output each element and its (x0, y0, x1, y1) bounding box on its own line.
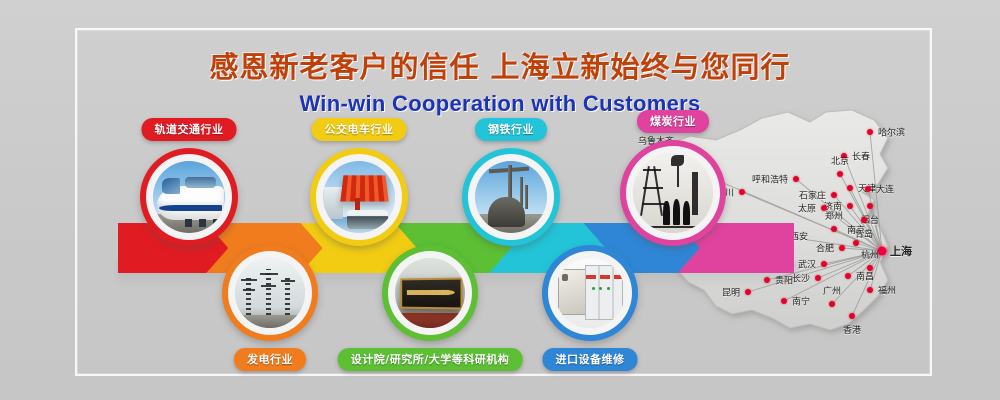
city-label: 北京 (831, 154, 849, 167)
switchgear-cabinet-row (585, 265, 623, 320)
pylon-2 (266, 269, 272, 319)
worker-1 (663, 201, 669, 225)
stack-3 (525, 185, 527, 208)
substation-ground (235, 315, 305, 328)
train-windows (185, 177, 217, 189)
city-label: 香港 (843, 323, 861, 336)
industry-photo-steel-blast-furnace (475, 161, 547, 233)
city-label: 石家庄 (799, 189, 826, 202)
city-dot-icon (793, 176, 799, 182)
city-label: 呼和浩特 (752, 173, 788, 186)
city-dot-icon (849, 313, 855, 319)
city-label: 福州 (878, 284, 896, 297)
building (324, 187, 343, 219)
industry-ring-coal (620, 140, 726, 246)
industry-node-research[interactable]: 设计院/研究所/大学等科研机构 (382, 245, 478, 341)
status-led-3 (607, 287, 610, 290)
city-label: 上海 (890, 243, 912, 259)
stack-1 (508, 165, 512, 198)
industry-photo-city-bus-pavilion (323, 161, 395, 233)
city-dot-icon (831, 226, 837, 232)
city-dot-icon (839, 245, 845, 251)
breaker-handle (562, 274, 568, 281)
industry-ring-research (382, 245, 478, 341)
city-dot-icon (781, 298, 787, 304)
industry-badge-rail[interactable]: 轨道交通行业 (142, 118, 237, 141)
city-label: 哈尔滨 (878, 126, 905, 139)
pylon-1-arm-b (243, 289, 256, 291)
status-led-2 (599, 287, 602, 290)
industry-node-rail[interactable]: 轨道交通行业 (140, 148, 238, 246)
city-dot-icon (821, 261, 827, 267)
industry-photo-high-speed-train (153, 161, 225, 233)
industry-badge-research[interactable]: 设计院/研究所/大学等科研机构 (338, 348, 523, 371)
city-dot-icon (837, 171, 843, 177)
industry-node-maintenance[interactable]: 进口设备维修 (542, 245, 638, 341)
pylon-3-arm-a (281, 280, 296, 282)
city-dot-icon (867, 203, 873, 209)
industry-ring-steel (462, 148, 560, 246)
industry-badge-power[interactable]: 发电行业 (234, 348, 306, 371)
city-label: 大连 (876, 183, 894, 196)
industry-photo-switchgear-cabinets (555, 258, 625, 328)
city-dot-icon (853, 240, 859, 246)
train-bogies (185, 219, 221, 228)
industry-badge-steel[interactable]: 钢铁行业 (475, 118, 547, 141)
crane-hook-block (671, 155, 684, 166)
city-dot-icon (847, 203, 853, 209)
page-title: 感恩新老客户的信任 上海立新始终与您同行 (0, 44, 1000, 86)
pylon-1-arm-a (241, 279, 256, 281)
industry-ring-maintenance (542, 245, 638, 341)
city-dot-icon (845, 273, 851, 279)
mine-ground (633, 226, 713, 228)
banner-stage: 感恩新老客户的信任 上海立新始终与您同行 Win-win Cooperation… (0, 0, 1000, 400)
stack-2 (520, 177, 523, 206)
city-label: 杭州 (861, 248, 879, 261)
city-dot-icon (867, 287, 873, 293)
pylon-2-arm-a (260, 273, 278, 275)
pylon-2-arm-b (261, 285, 276, 287)
entrance-steps (395, 313, 465, 328)
city-dot-icon (815, 275, 821, 281)
industry-node-coal[interactable]: 煤炭行业 (620, 140, 726, 246)
industry-node-steel[interactable]: 钢铁行业 (462, 148, 560, 246)
city-dot-icon (739, 189, 745, 195)
derrick-brace-2 (643, 187, 663, 189)
city-label: 南宁 (792, 295, 810, 308)
city-dot-icon (847, 185, 853, 191)
city-dot-icon (831, 192, 837, 198)
plaque-calligraphy (407, 284, 456, 301)
derrick-brace-1 (643, 169, 661, 171)
city-label: 合肥 (816, 242, 834, 255)
city-dot-icon (745, 289, 751, 295)
status-led-1 (592, 287, 595, 290)
industry-photo-coal-derrick-workers (633, 153, 713, 233)
city-dot-icon (867, 129, 873, 135)
derrick-brace-3 (642, 203, 664, 205)
city-dot-icon (865, 186, 871, 192)
industry-ring-rail (140, 148, 238, 246)
industry-badge-bus[interactable]: 公交电车行业 (312, 118, 407, 141)
industry-photo-power-transmission-towers (235, 258, 305, 328)
industry-node-power[interactable]: 发电行业 (222, 245, 318, 341)
industry-ring-bus (310, 148, 408, 246)
circuit-breaker-unit (558, 269, 588, 314)
worker-2 (673, 199, 680, 225)
hook-cable (677, 166, 679, 187)
blast-furnace (488, 197, 525, 227)
university-name-plaque (400, 277, 462, 309)
train-stripe (159, 205, 222, 211)
worker-3 (683, 201, 690, 225)
city-label: 太原 (798, 202, 816, 215)
china-pavilion-roof (340, 175, 388, 201)
city-label: 南京 (847, 223, 865, 236)
cabinet-indicator-strip (586, 275, 622, 279)
drill-tower (692, 172, 698, 215)
pylon-3 (285, 278, 290, 320)
city-label: 长春 (852, 150, 870, 163)
industry-node-bus[interactable]: 公交电车行业 (310, 148, 408, 246)
train-windshield (162, 178, 181, 194)
city-label: 广州 (823, 284, 841, 297)
city-label: 武汉 (798, 258, 816, 271)
industry-photo-university-entrance-sign (395, 258, 465, 328)
city-bus (347, 210, 387, 229)
industry-badge-maintenance[interactable]: 进口设备维修 (543, 348, 638, 371)
city-label: 南昌 (856, 270, 874, 283)
city-label: 郑州 (825, 209, 843, 222)
city-dot-icon (829, 301, 835, 307)
industry-badge-coal[interactable]: 煤炭行业 (637, 110, 709, 133)
industry-ring-power (222, 245, 318, 341)
pylon-1 (246, 276, 251, 319)
